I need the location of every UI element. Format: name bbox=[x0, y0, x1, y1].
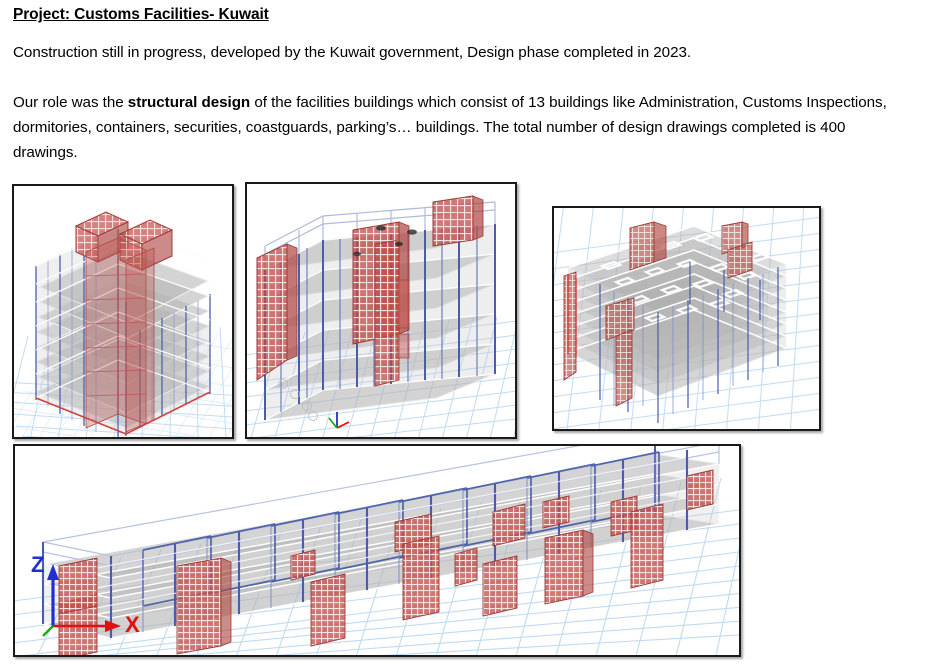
figure-1-panel bbox=[12, 184, 234, 439]
page-title: Project: Customs Facilities- Kuwait bbox=[13, 6, 269, 24]
role-paragraph: Our role was the structural design of th… bbox=[13, 90, 913, 165]
role-paragraph-lead: Our role was the bbox=[13, 94, 128, 111]
structural-model-render-1 bbox=[14, 186, 232, 437]
svg-text:Z: Z bbox=[31, 552, 44, 577]
structural-model-render-3 bbox=[554, 208, 819, 429]
role-paragraph-emphasis: structural design bbox=[128, 94, 250, 111]
figure-4-panel: Z X bbox=[13, 444, 741, 657]
structural-model-render-2 bbox=[247, 184, 515, 437]
figure-3-panel bbox=[552, 206, 821, 431]
svg-text:X: X bbox=[125, 612, 140, 637]
structural-model-render-4: Z X bbox=[15, 446, 739, 655]
intro-paragraph: Construction still in progress, develope… bbox=[13, 44, 691, 61]
figure-2-panel bbox=[245, 182, 517, 439]
